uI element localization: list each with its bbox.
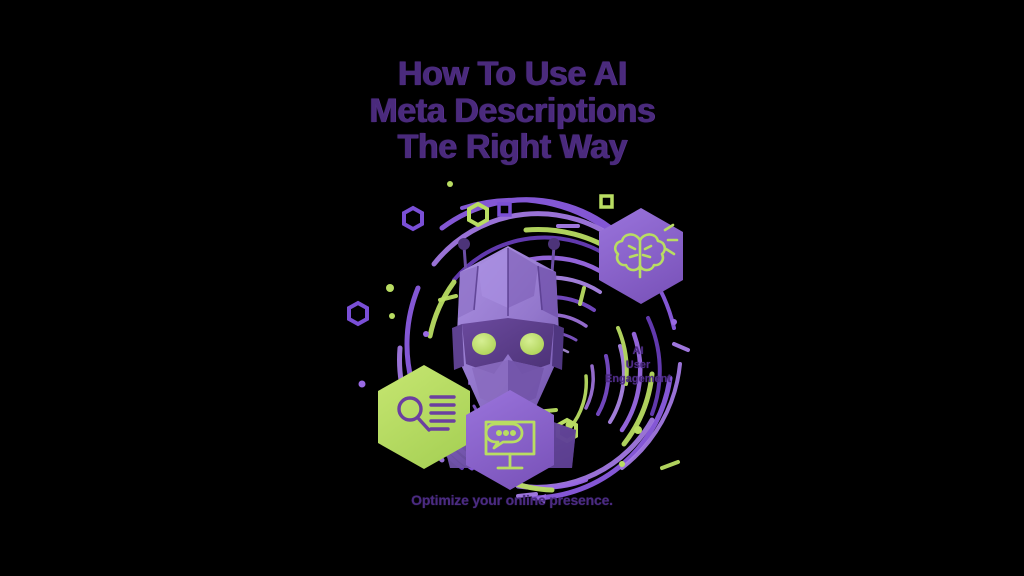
poster-canvas: How To Use AI Meta Descriptions The Righ… [0, 0, 1024, 576]
title-line-3: The Right Way [0, 129, 1024, 166]
robot-ear [552, 324, 564, 370]
caption-line-3: Engagement [588, 373, 688, 387]
title-line-2: Meta Descriptions [0, 93, 1024, 130]
caption-line-2: User [588, 359, 688, 373]
antenna-tip [458, 238, 470, 250]
hex-brain-card[interactable] [599, 208, 683, 304]
title-line-1: How To Use AI [0, 56, 1024, 93]
square-outline-icon [601, 196, 612, 207]
robot-eye-left [472, 333, 496, 355]
hex-outline-icon [404, 208, 422, 229]
caption-line-1: AI [588, 345, 688, 359]
ai-user-engagement-caption: AI User Engagement [588, 345, 688, 386]
antenna-tip [548, 238, 560, 250]
square-outline-icon [499, 204, 510, 215]
robot-eye-right [520, 333, 544, 355]
illustration-svg [322, 168, 702, 493]
hex-outline-icon [349, 303, 367, 324]
page-title: How To Use AI Meta Descriptions The Righ… [0, 56, 1024, 166]
robot-ear [452, 324, 464, 370]
tagline: Optimize your online presence. [0, 492, 1024, 508]
ai-illustration [322, 168, 702, 493]
